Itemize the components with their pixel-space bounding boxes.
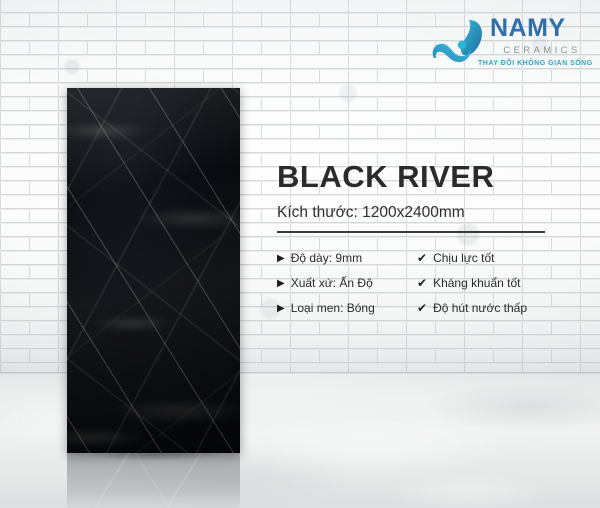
check-icon: ✔ — [417, 252, 427, 265]
product-info-panel: BLACK RIVER Kích thước: 1200x2400mm — [277, 160, 567, 233]
triangle-right-icon: ▶ — [277, 302, 285, 316]
feature-item: ▶ Loại men: Bóng — [277, 302, 417, 316]
feature-label: Kháng khuẩn tốt — [433, 277, 520, 291]
feature-label: Độ dày: 9mm — [291, 252, 362, 266]
feature-label: Chịu lực tốt — [433, 252, 494, 266]
brand-wordmark: NAMY CERAMICS — [490, 16, 592, 56]
product-features: ▶ Độ dày: 9mm ▶ Xuất xứ: Ấn Độ ▶ Loại me… — [277, 252, 577, 315]
brand-tagline: THAY ĐỔI KHÔNG GIAN SỐNG — [478, 60, 592, 67]
feature-item: ✔ Chịu lực tốt — [417, 252, 577, 266]
brand-logo: NAMY CERAMICS THAY ĐỔI KHÔNG GIAN SỐNG — [428, 12, 592, 74]
triangle-right-icon: ▶ — [277, 277, 285, 291]
feature-label: Độ hút nước thấp — [433, 302, 527, 316]
brand-subname: CERAMICS — [490, 45, 592, 56]
check-icon: ✔ — [417, 302, 427, 315]
feature-item: ✔ Độ hút nước thấp — [417, 302, 577, 316]
product-title: BLACK RIVER — [277, 160, 567, 194]
panel-divider — [277, 231, 545, 233]
feature-label: Xuất xứ: Ấn Độ — [291, 277, 373, 291]
feature-item: ▶ Xuất xứ: Ấn Độ — [277, 277, 417, 291]
triangle-right-icon: ▶ — [277, 252, 285, 266]
feature-item: ▶ Độ dày: 9mm — [277, 252, 417, 266]
slab-floor-reflection — [67, 453, 240, 508]
brand-name: NAMY — [490, 16, 592, 41]
black-marble-slab — [67, 88, 240, 453]
features-right-column: ✔ Chịu lực tốt ✔ Kháng khuẩn tốt ✔ Độ hú… — [417, 252, 577, 315]
reflection-fade — [67, 453, 240, 508]
feature-item: ✔ Kháng khuẩn tốt — [417, 277, 577, 291]
check-icon: ✔ — [417, 277, 427, 290]
product-size: Kích thước: 1200x2400mm — [277, 204, 567, 223]
feature-label: Loại men: Bóng — [291, 302, 375, 316]
slab-gloss-sheen — [67, 88, 240, 453]
features-left-column: ▶ Độ dày: 9mm ▶ Xuất xứ: Ấn Độ ▶ Loại me… — [277, 252, 417, 315]
product-banner: NAMY CERAMICS THAY ĐỔI KHÔNG GIAN SỐNG B… — [0, 0, 600, 508]
